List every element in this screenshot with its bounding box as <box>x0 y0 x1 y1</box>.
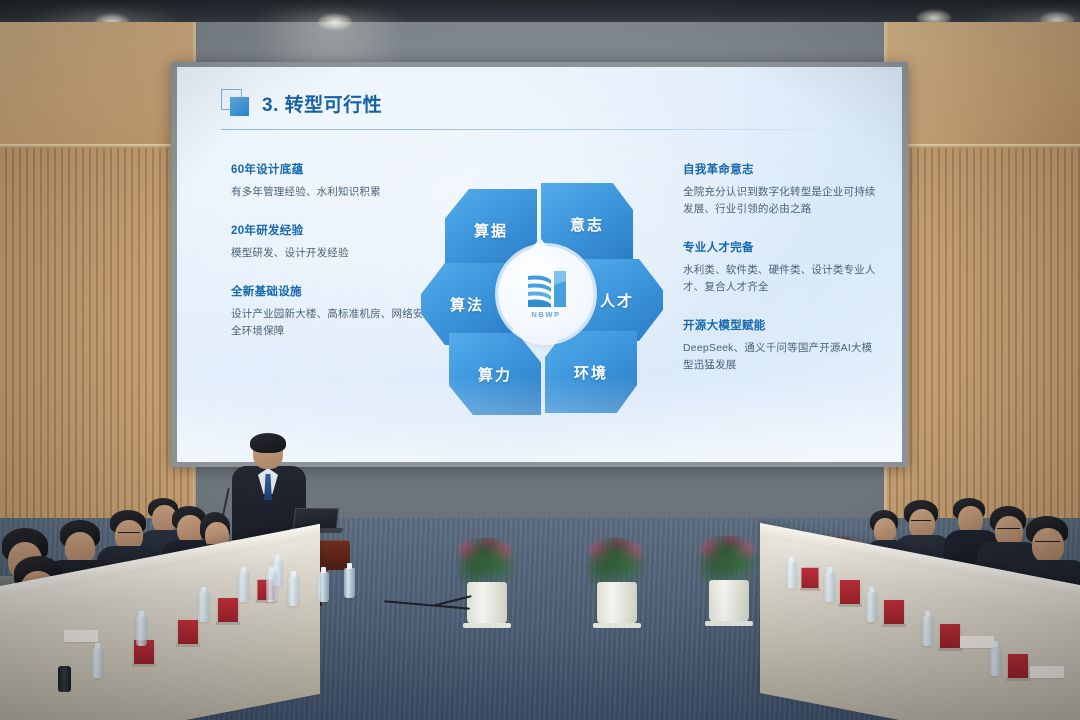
left-text-column: 60年设计底蕴 有多年管理经验、水利知识积累 20年研发经验 模型研发、设计开发… <box>231 161 427 361</box>
feature-heading: 60年设计底蕴 <box>231 161 427 177</box>
feature-body: 全院充分认识到数字化转型是企业可持续发展、行业引领的必由之路 <box>683 184 879 218</box>
water-bottle <box>318 572 329 602</box>
feature-heading: 全新基础设施 <box>231 283 427 299</box>
water-bottle <box>824 572 835 602</box>
water-bottle <box>922 616 933 646</box>
conference-room: 3. 转型可行性 60年设计底蕴 有多年管理经验、水利知识积累 20年研发经验 … <box>0 0 1080 720</box>
wood-slats <box>884 148 1080 522</box>
feature-body: DeepSeek、通义千问等国产开源AI大模型迅猛发展 <box>683 340 879 374</box>
feature-body: 有多年管理经验、水利知识积累 <box>231 184 427 201</box>
two-squares-icon <box>221 89 251 117</box>
right-text-column: 自我革命意志 全院充分认识到数字化转型是企业可持续发展、行业引领的必由之路 专业… <box>683 161 879 395</box>
slide-title-row: 3. 转型可行性 <box>221 89 382 117</box>
name-card <box>802 568 819 588</box>
potted-plant <box>700 536 758 622</box>
wood-upper-panel <box>884 22 1080 146</box>
water-bottle <box>198 592 209 622</box>
nbwp-logo-icon <box>524 269 568 309</box>
feature-body: 水利类、软件类、硬件类、设计类专业人才、复合人才齐全 <box>683 262 879 296</box>
petal-label: 算据 <box>474 220 508 241</box>
feature-block: 20年研发经验 模型研发、设计开发经验 <box>231 222 427 262</box>
wood-wall-panel-left <box>0 22 196 522</box>
name-card <box>840 580 860 604</box>
feature-heading: 20年研发经验 <box>231 222 427 238</box>
water-bottle <box>866 592 877 622</box>
feature-heading: 专业人才完备 <box>683 239 879 255</box>
feature-body: 模型研发、设计开发经验 <box>231 245 427 262</box>
name-card <box>1008 654 1028 678</box>
water-bottle <box>92 648 103 678</box>
feature-heading: 开源大模型赋能 <box>683 317 879 333</box>
speaker-hair <box>250 433 286 453</box>
petal-bottom-right: 环境 <box>545 331 637 413</box>
title-divider <box>221 129 861 130</box>
water-bottle <box>288 576 299 606</box>
water-bottle <box>136 616 147 646</box>
feature-block: 开源大模型赋能 DeepSeek、通义千问等国产开源AI大模型迅猛发展 <box>683 317 879 374</box>
feature-block: 全新基础设施 设计产业园新大楼、高标准机房、网络安全环境保障 <box>231 283 427 340</box>
wood-upper-panel <box>0 22 196 146</box>
name-card <box>884 600 904 624</box>
feature-body: 设计产业园新大楼、高标准机房、网络安全环境保障 <box>231 306 427 340</box>
feature-block: 自我革命意志 全院充分认识到数字化转型是企业可持续发展、行业引领的必由之路 <box>683 161 879 218</box>
name-card <box>178 620 198 644</box>
presentation-slide: 3. 转型可行性 60年设计底蕴 有多年管理经验、水利知识积累 20年研发经验 … <box>177 67 902 462</box>
name-card <box>218 598 238 622</box>
slide-title: 3. 转型可行性 <box>262 90 382 117</box>
projection-screen[interactable]: 3. 转型可行性 60年设计底蕴 有多年管理经验、水利知识积累 20年研发经验 … <box>171 62 908 467</box>
water-bottle <box>787 562 797 589</box>
thermos-mug <box>58 666 71 692</box>
name-card <box>940 624 960 648</box>
petal-bottom-left: 算力 <box>449 333 541 415</box>
feature-block: 专业人才完备 水利类、软件类、硬件类、设计类专业人才、复合人才齐全 <box>683 239 879 296</box>
petal-label: 意志 <box>570 214 604 235</box>
potted-plant <box>588 538 646 624</box>
feature-block: 60年设计底蕴 有多年管理经验、水利知识积累 <box>231 161 427 201</box>
petal-label: 环境 <box>574 362 608 383</box>
notepad <box>1030 666 1064 678</box>
water-bottle <box>266 572 277 602</box>
hex-petal-diagram: 算据 意志 算法 人才 算力 <box>421 167 671 417</box>
ceiling-downlight <box>318 14 352 30</box>
petal-label: 算法 <box>450 294 484 315</box>
notepad <box>960 636 994 648</box>
wood-slats <box>0 148 196 522</box>
petal-label: 人才 <box>600 290 634 311</box>
water-bottle <box>990 646 1001 676</box>
feature-heading: 自我革命意志 <box>683 161 879 177</box>
diagram-center-badge: NBWP <box>498 246 594 342</box>
water-bottle <box>238 572 249 602</box>
water-bottle <box>344 568 355 598</box>
potted-plant <box>458 538 516 624</box>
petal-label: 算力 <box>478 364 512 385</box>
notepad <box>64 630 98 642</box>
logo-text: NBWP <box>531 310 560 319</box>
wood-wall-panel-right <box>884 22 1080 522</box>
